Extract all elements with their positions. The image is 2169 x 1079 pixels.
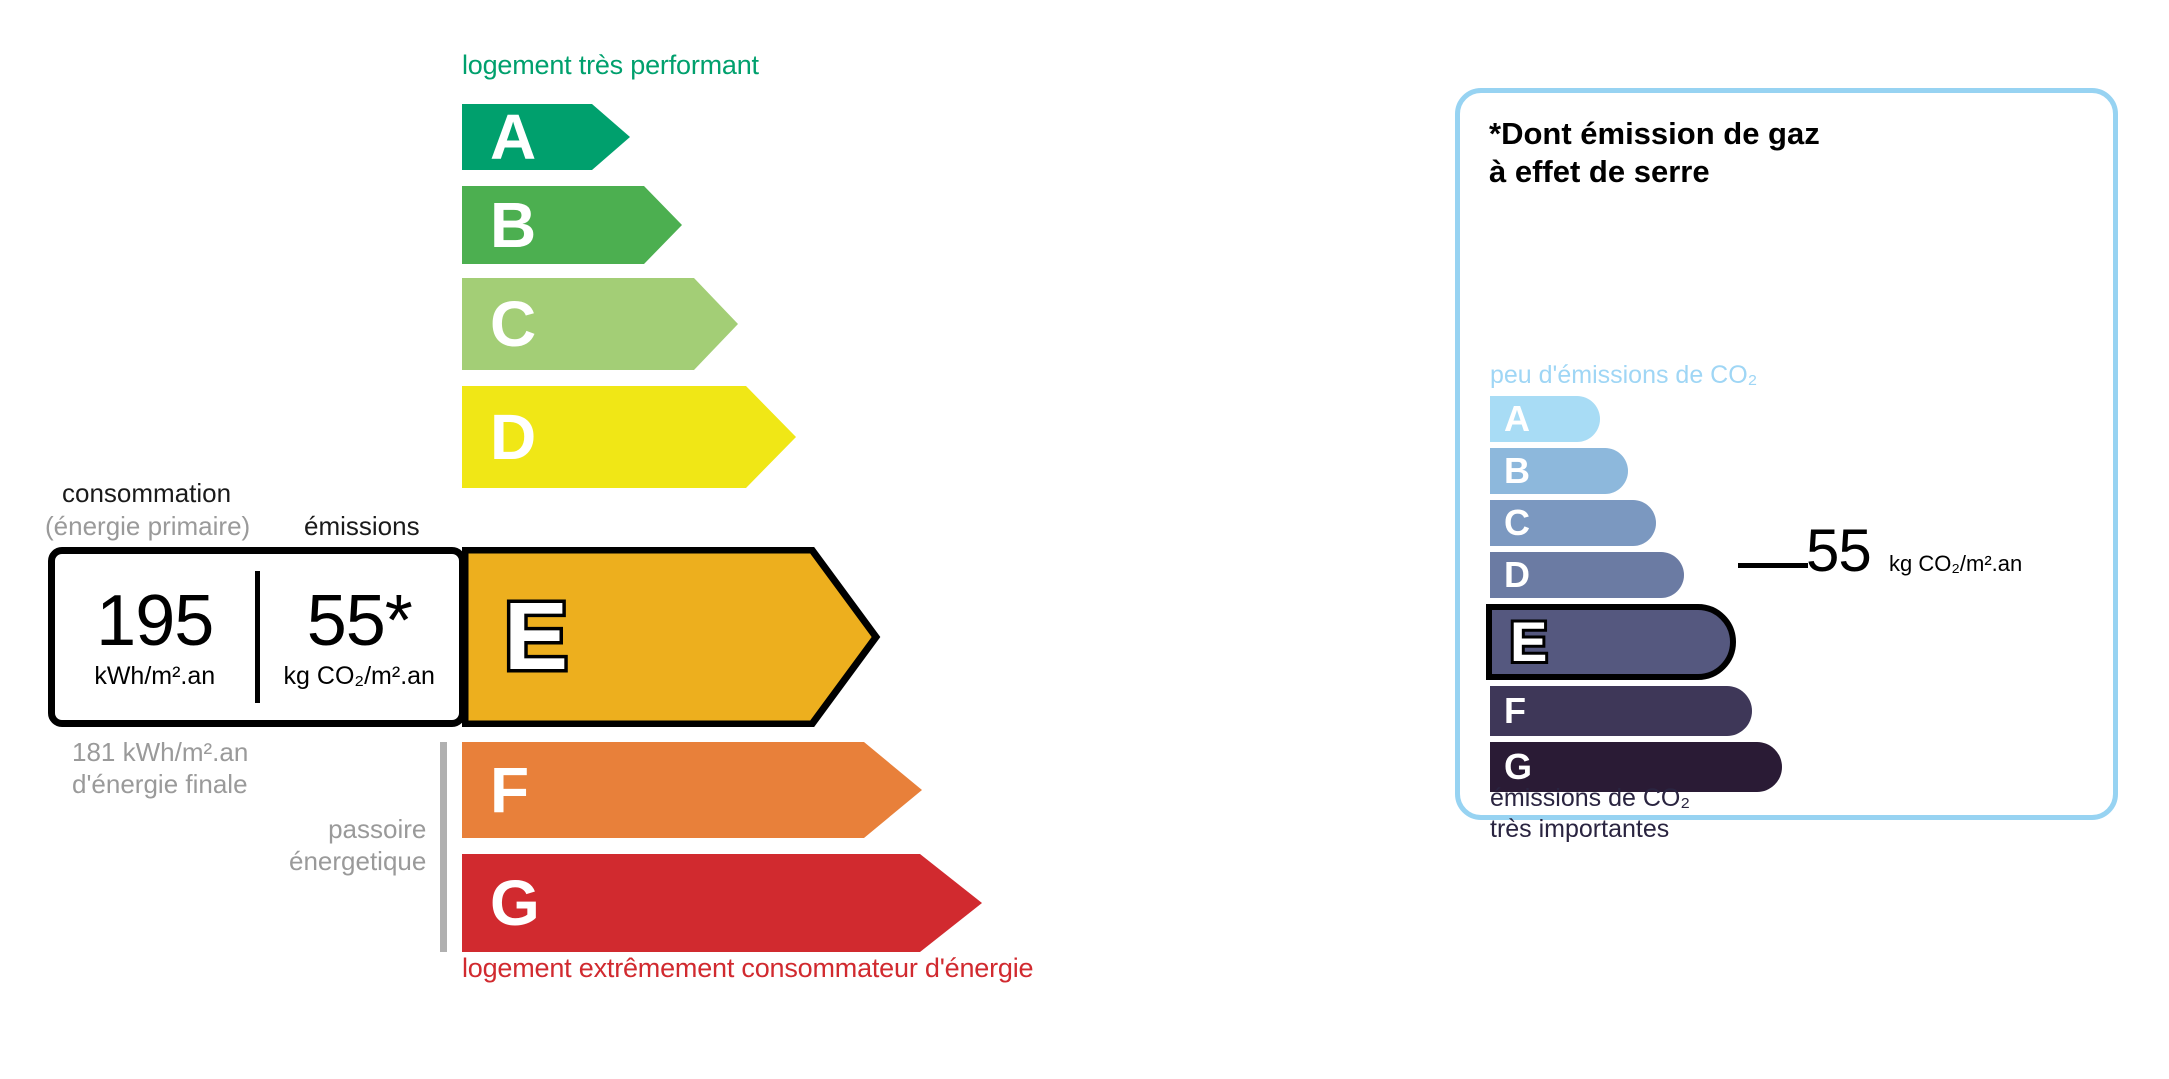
passoire-divider-bar — [440, 742, 447, 952]
ges-bar-d-shape: D — [1490, 552, 1684, 598]
dpe-diagram: logement très performant A B C — [0, 0, 2169, 1079]
energy-arrow-g-shape — [462, 854, 982, 952]
ges-letter-a: A — [1504, 401, 1530, 437]
passoire-line1: passoire — [289, 814, 426, 846]
energy-scale-bottom-caption: logement extrêmement consommateur d'éner… — [462, 953, 1033, 984]
ges-letter-d: D — [1504, 557, 1530, 593]
energy-bar-g: G — [462, 854, 982, 952]
energy-letter-a: A — [490, 105, 536, 169]
dpe-value-box: 195 kWh/m².an 55* kg CO₂/m².an — [48, 547, 466, 727]
ges-top-caption: peu d'émissions de CO₂ — [1490, 361, 1757, 390]
energy-letter-c: C — [490, 292, 536, 356]
ges-bottom-line1: émissions de CO₂ — [1490, 783, 1690, 814]
energy-bar-a: A — [462, 104, 630, 170]
consumption-unit: kWh/m².an — [55, 664, 255, 689]
ges-bar-e-current: E — [1486, 604, 1736, 680]
ges-panel-title: *Dont émission de gaz à effet de serre — [1489, 115, 1820, 191]
final-energy-line2: d'énergie finale — [72, 769, 248, 801]
label-emissions: émissions — [304, 511, 420, 542]
ges-callout-leader-line — [1738, 563, 1808, 568]
label-final-energy: 181 kWh/m².an d'énergie finale — [72, 737, 248, 800]
ges-letter-c: C — [1504, 505, 1530, 541]
passoire-line2: énergetique — [289, 846, 426, 878]
ges-title-line1: *Dont émission de gaz — [1489, 115, 1820, 153]
ges-letter-b: B — [1504, 453, 1530, 489]
ges-bar-b-shape: B — [1490, 448, 1628, 494]
ges-bar-d: D — [1490, 552, 1684, 598]
ges-bottom-line2: très importantes — [1490, 814, 1690, 845]
energy-scale-top-caption: logement très performant — [462, 50, 759, 81]
emission-cell: 55* kg CO₂/m².an — [260, 585, 460, 689]
emission-value: 55* — [260, 585, 460, 657]
energy-arrow-a-shape — [462, 104, 630, 170]
energy-letter-g: G — [490, 871, 540, 935]
energy-letter-e: E — [504, 589, 568, 685]
consumption-cell: 195 kWh/m².an — [55, 585, 255, 689]
ges-bar-c-shape: C — [1490, 500, 1656, 546]
ges-bar-f-shape: F — [1490, 686, 1752, 736]
ges-letter-e: E — [1510, 614, 1547, 670]
ges-letter-f: F — [1504, 693, 1526, 729]
energy-letter-b: B — [490, 193, 536, 257]
ges-bar-c: C — [1490, 500, 1656, 546]
energy-bar-c: C — [462, 278, 738, 370]
ges-bar-f: F — [1490, 686, 1752, 736]
energy-letter-d: D — [490, 405, 536, 469]
consumption-value: 195 — [55, 585, 255, 657]
ges-bar-b: B — [1490, 448, 1628, 494]
ges-bar-e-shape: E — [1486, 604, 1736, 680]
energy-bar-b: B — [462, 186, 682, 264]
ges-bar-a: A — [1490, 396, 1600, 442]
energy-bar-e-current: E — [462, 547, 882, 727]
ges-callout-unit: kg CO₂/m².an — [1889, 553, 2022, 575]
emission-unit: kg CO₂/m².an — [260, 664, 460, 689]
energy-letter-f: F — [490, 758, 529, 822]
final-energy-line1: 181 kWh/m².an — [72, 737, 248, 769]
ges-bar-a-shape: A — [1490, 396, 1600, 442]
ges-bottom-caption: émissions de CO₂ très importantes — [1490, 783, 1690, 844]
ges-callout-value: 55 — [1806, 521, 1871, 581]
ges-panel: *Dont émission de gaz à effet de serre p… — [1455, 88, 2118, 820]
ges-title-line2: à effet de serre — [1489, 153, 1820, 191]
energy-bar-d: D — [462, 386, 796, 488]
ges-letter-g: G — [1504, 749, 1532, 785]
energy-arrow-f-shape — [462, 742, 922, 838]
label-consommation-sub: (énergie primaire) — [45, 511, 250, 542]
label-passoire-energetique: passoire énergetique — [289, 814, 426, 877]
label-consommation: consommation — [62, 478, 231, 509]
energy-bar-f: F — [462, 742, 922, 838]
